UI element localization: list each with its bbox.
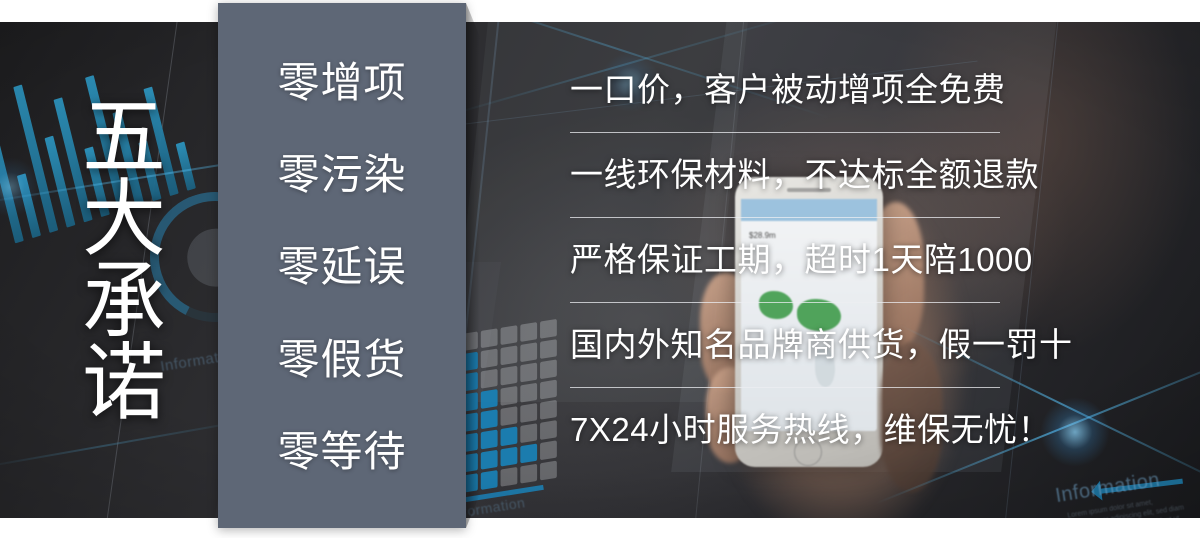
feature-row: 一口价，客户被动增项全免费	[570, 48, 1010, 132]
promise-banner: $28.9m Information Information Informati…	[0, 0, 1200, 538]
page-title-char: 五	[82, 96, 166, 178]
feature-text-2: 一线环保材料，不达标全额退款	[570, 155, 1039, 195]
feature-row: 严格保证工期，超时1天陪1000	[570, 218, 1010, 302]
feature-text-1: 一口价，客户被动增项全免费	[570, 70, 1006, 110]
feature-row: 7X24小时服务热线，维保无忧！	[570, 388, 1010, 472]
promise-item-1: 零增项	[277, 60, 406, 106]
promise-item-3: 零延误	[277, 244, 406, 290]
feature-text-4: 国内外知名品牌商供货，假一罚十	[570, 325, 1073, 365]
promise-item-5: 零等待	[277, 429, 406, 475]
feature-list: 一口价，客户被动增项全免费 一线环保材料，不达标全额退款 严格保证工期，超时1天…	[570, 48, 1010, 472]
promise-item-2: 零污染	[277, 152, 406, 198]
promise-item-4: 零假货	[277, 337, 406, 383]
feature-text-5: 7X24小时服务热线，维保无忧！	[570, 410, 1051, 450]
feature-text-3: 严格保证工期，超时1天陪1000	[570, 240, 1033, 280]
page-title-char: 大	[82, 178, 166, 260]
page-title-char: 诺	[82, 342, 166, 424]
promise-panel-wrapper: 零增项 零污染 零延误 零假货 零等待	[218, 3, 466, 528]
page-title-char: 承	[82, 260, 166, 342]
promise-panel: 零增项 零污染 零延误 零假货 零等待	[218, 3, 466, 528]
panel-bevel-shadow	[466, 3, 480, 528]
page-title: 五 大 承 诺	[68, 96, 180, 424]
feature-row: 一线环保材料，不达标全额退款	[570, 133, 1010, 217]
feature-row: 国内外知名品牌商供货，假一罚十	[570, 303, 1010, 387]
